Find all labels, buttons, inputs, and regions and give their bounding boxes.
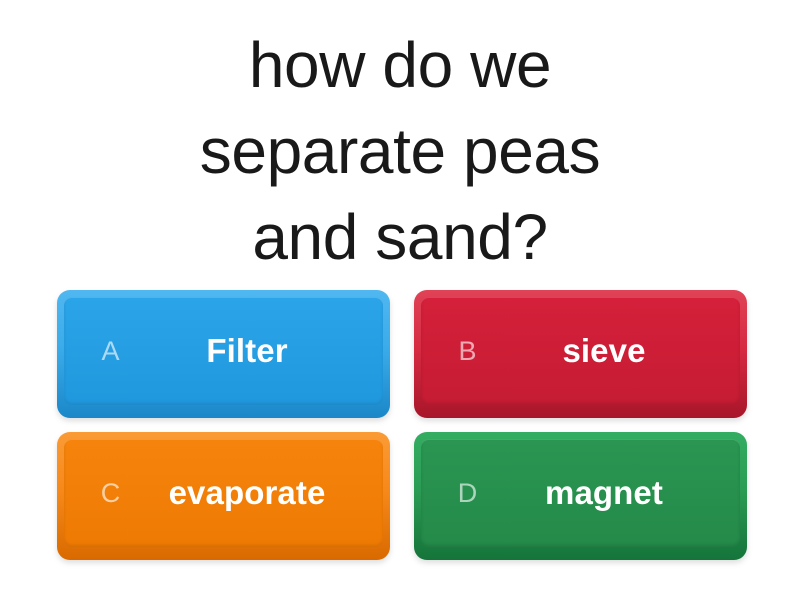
answer-option-d-label: magnet [495,475,740,511]
answer-option-c[interactable]: C evaporate [57,432,390,560]
answer-option-a[interactable]: A Filter [57,290,390,418]
answer-option-c-face: C evaporate [64,439,383,547]
answer-option-c-label: evaporate [138,475,383,511]
answer-option-b[interactable]: B sieve [414,290,747,418]
question-text: how do we separate peas and sand? [200,22,600,280]
question-area: how do we separate peas and sand? [0,0,800,290]
answer-option-b-face: B sieve [421,297,740,405]
answer-option-d-face: D magnet [421,439,740,547]
answer-option-b-label: sieve [495,333,740,369]
answer-option-a-label: Filter [138,333,383,369]
answer-option-a-face: A Filter [64,297,383,405]
answer-options-grid: A Filter B sieve C evaporate D magnet [57,290,747,560]
answer-option-c-letter: C [84,480,138,507]
quiz-card: how do we separate peas and sand? A Filt… [0,0,800,600]
answer-option-d[interactable]: D magnet [414,432,747,560]
answer-option-b-letter: B [441,338,495,365]
answer-option-d-letter: D [441,480,495,507]
answer-option-a-letter: A [84,338,138,365]
